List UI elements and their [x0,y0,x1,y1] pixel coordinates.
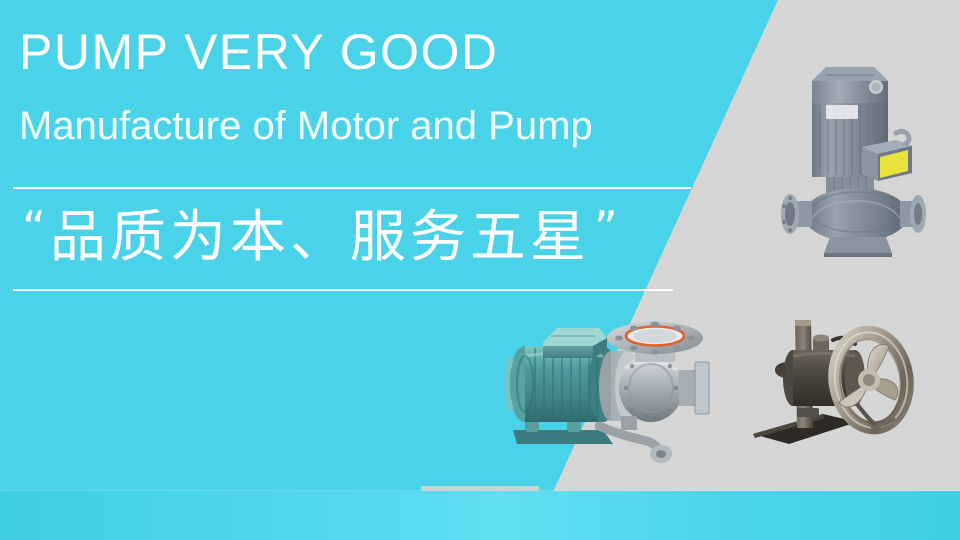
page-subtitle: Manufacture of Motor and Pump [19,106,593,146]
slogan-text: 品质为本、服务五星 [50,210,590,266]
quote-open-mark: “ [22,205,46,251]
page-title: PUMP VERY GOOD [19,27,498,77]
banner-slide: PUMP VERY GOOD Manufacture of Motor and … [0,0,960,540]
bottom-cyan-strip [0,491,960,540]
quote-close-mark: ” [594,205,618,251]
divider-bottom [13,289,673,291]
product-image-vertical-inline-pump [770,45,950,260]
product-image-submersible-mixer [745,300,940,465]
product-image-horizontal-centrifugal-pump [495,308,730,468]
divider-top [13,187,691,189]
slogan: “ 品质为本、服务五星 ” [22,199,618,277]
